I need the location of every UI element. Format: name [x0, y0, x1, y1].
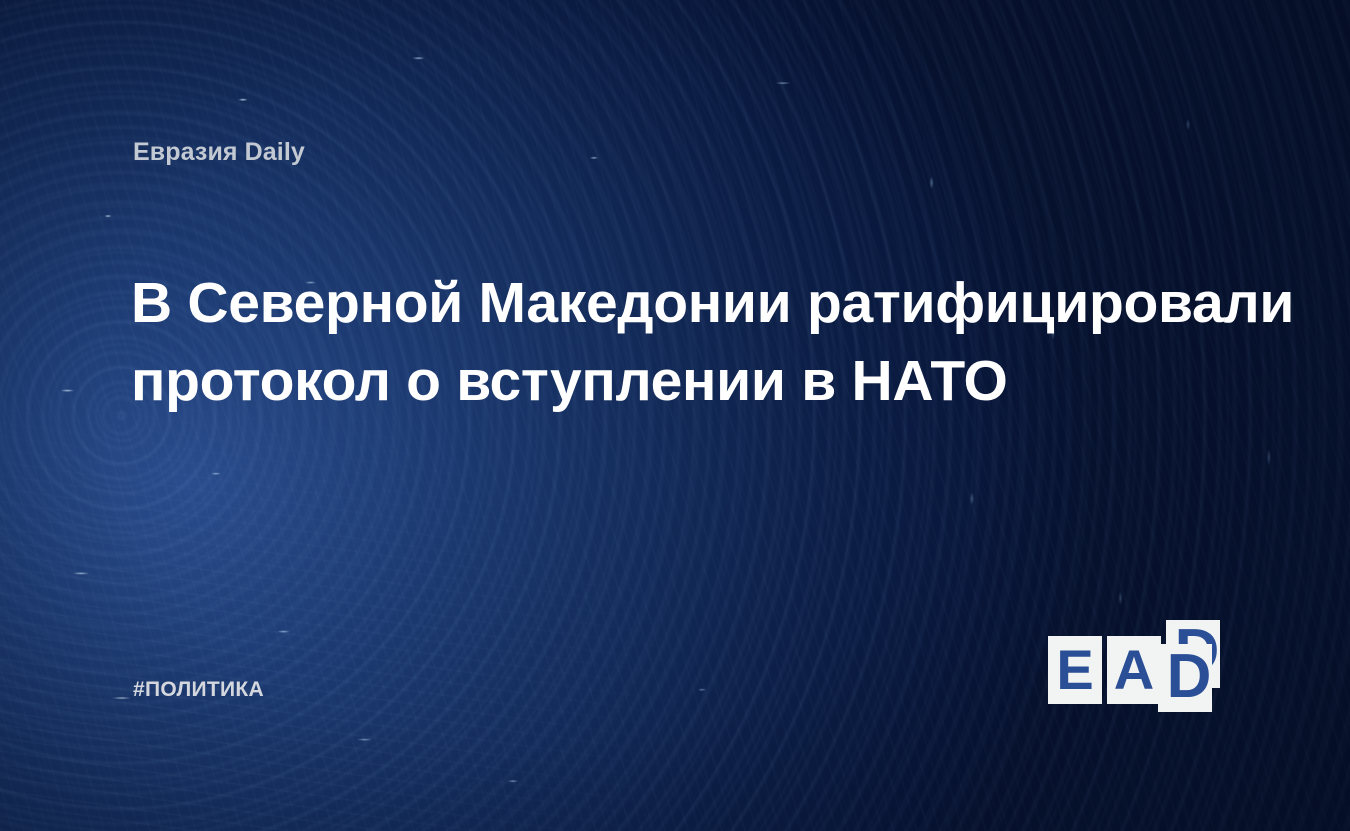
- category-hashtag[interactable]: #ПОЛИТИКА: [133, 678, 264, 702]
- cover-content: Евразия Daily В Северной Македонии ратиф…: [0, 0, 1350, 831]
- publication-name: Евразия Daily: [133, 138, 305, 167]
- logo-letter-d-bottom: D: [1162, 644, 1212, 711]
- logo-tile-d-bottom: D: [1158, 644, 1212, 712]
- news-cover-card: Евразия Daily В Северной Македонии ратиф…: [0, 0, 1350, 831]
- headline-line-2: протокол о вступлении в НАТО: [131, 342, 1271, 420]
- ead-logo[interactable]: E A D D: [1046, 620, 1224, 712]
- logo-letter-e: E: [1048, 636, 1102, 704]
- headline-line-1: В Северной Македонии ратифицировали: [131, 264, 1271, 342]
- logo-tile-a: A: [1107, 636, 1161, 704]
- logo-tile-e: E: [1048, 636, 1102, 704]
- logo-letter-a: A: [1107, 636, 1161, 704]
- headline: В Северной Македонии ратифицировали прот…: [131, 264, 1271, 420]
